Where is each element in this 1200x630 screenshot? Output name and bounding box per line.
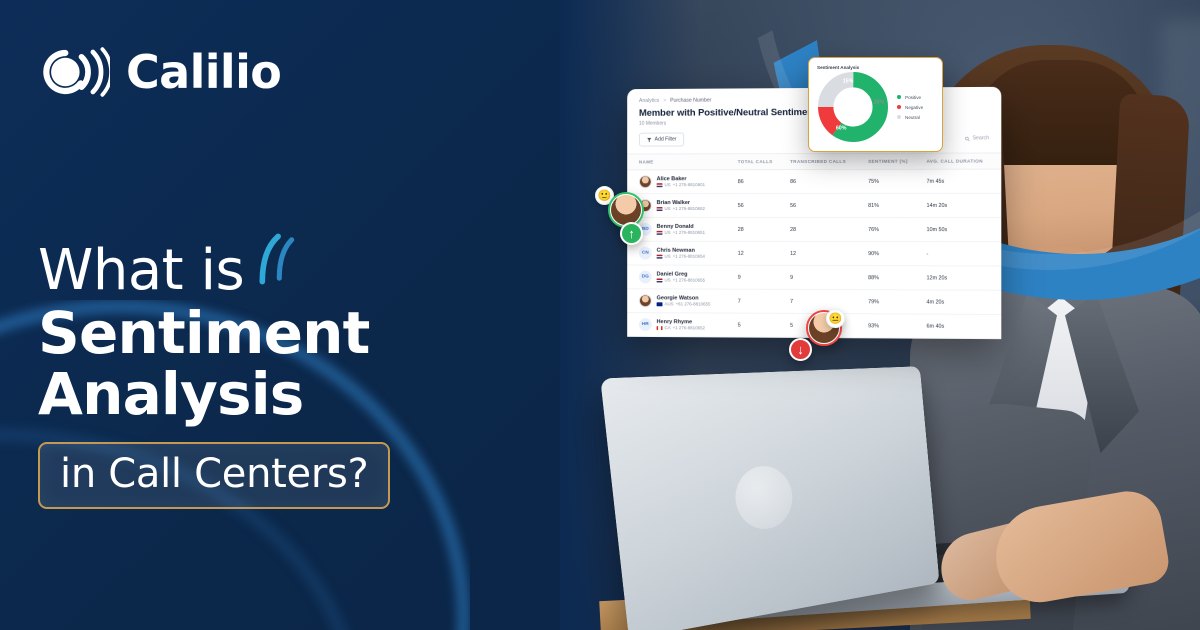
cell-duration: 6m 40s bbox=[922, 314, 1001, 339]
country-code: US bbox=[664, 206, 670, 211]
country-code: AUS bbox=[664, 301, 673, 306]
member-phone: US+1 276-8810654 bbox=[657, 254, 705, 259]
headline-line-1-row: What is bbox=[38, 243, 608, 299]
cell-total-calls: 7 bbox=[734, 289, 786, 313]
cell-sentiment: 75% bbox=[864, 169, 922, 193]
legend-item-positive[interactable]: Positive bbox=[897, 95, 923, 100]
legend-swatch bbox=[897, 95, 901, 99]
table-header: NAME TOTAL CALLS TRANSCRIBED CALLS SENTI… bbox=[627, 153, 1001, 170]
table-row[interactable]: Brian WalkerUS+1 276-8810652565681%14m 2… bbox=[627, 193, 1001, 217]
col-total-calls[interactable]: TOTAL CALLS bbox=[734, 154, 786, 170]
country-code: CA bbox=[664, 325, 670, 330]
col-transcribed-calls[interactable]: TRANSCRIBED CALLS bbox=[786, 153, 864, 169]
cell-total-calls: 28 bbox=[734, 217, 786, 241]
cell-total-calls: 9 bbox=[734, 265, 786, 289]
slice-label-negative: 15% bbox=[843, 78, 854, 84]
legend-label: Neutral bbox=[905, 115, 920, 120]
avatar-face bbox=[611, 195, 641, 225]
promo-banner: Calilio What is Sentiment Analysis in Ca… bbox=[0, 0, 1200, 630]
col-name[interactable]: NAME bbox=[627, 154, 734, 170]
cell-name: Georgie WatsonAUS+61 276-8810655 bbox=[627, 289, 734, 313]
country-code: US bbox=[664, 230, 670, 235]
breadcrumb-current: Purchase Number bbox=[670, 98, 711, 104]
member-phone: AUS+61 276-8810655 bbox=[657, 301, 711, 307]
brand-logo[interactable]: Calilio bbox=[34, 34, 281, 110]
chart-legend: PositiveNegativeNeutral bbox=[897, 95, 923, 120]
cell-total-calls: 56 bbox=[734, 194, 786, 218]
country-code: US bbox=[664, 278, 670, 283]
cell-transcribed-calls: 9 bbox=[786, 265, 864, 289]
flag-icon bbox=[657, 278, 663, 282]
broadcast-signal-icon bbox=[34, 34, 110, 110]
search-placeholder: Search bbox=[972, 135, 989, 141]
member-phone: US+1 276-8810652 bbox=[657, 206, 705, 211]
avatar: CN bbox=[639, 247, 652, 260]
cell-name: HRHenry RhymeCA+1 276-8810652 bbox=[627, 313, 734, 337]
legend-item-neutral[interactable]: Neutral bbox=[897, 115, 923, 120]
cell-sentiment: 93% bbox=[864, 314, 922, 338]
avatar: HR bbox=[639, 318, 652, 331]
signal-swoosh-icon bbox=[254, 233, 300, 285]
flag-icon bbox=[657, 326, 663, 330]
legend-swatch bbox=[897, 105, 901, 109]
neutral-emoji-chip: 😐 bbox=[826, 309, 845, 328]
chart-body: 60% 15% 25% PositiveNegativeNeutral bbox=[817, 71, 934, 143]
headline-badge: in Call Centers? bbox=[38, 442, 390, 509]
table-header-row: NAME TOTAL CALLS TRANSCRIBED CALLS SENTI… bbox=[627, 153, 1001, 170]
flag-icon bbox=[657, 254, 663, 258]
flag-icon bbox=[657, 231, 663, 235]
avatar: DG bbox=[639, 270, 652, 283]
col-avg-duration[interactable]: AVG. CALL DURATION bbox=[922, 153, 1001, 169]
table-row[interactable]: CNChris NewmanUS+1 276-8810654121290%- bbox=[627, 241, 1001, 266]
brand-name: Calilio bbox=[126, 45, 281, 99]
flag-icon bbox=[657, 183, 663, 187]
country-code: US bbox=[664, 254, 670, 259]
member-phone: US+1 276-8810655 bbox=[657, 278, 705, 284]
cell-transcribed-calls: 28 bbox=[786, 217, 864, 241]
funnel-icon bbox=[647, 137, 652, 142]
phone-number: +1 276-8810652 bbox=[673, 325, 705, 331]
legend-label: Positive bbox=[905, 95, 921, 100]
cell-sentiment: 90% bbox=[864, 242, 922, 266]
arrow-up-chip: ↑ bbox=[620, 222, 643, 245]
laptop-logo bbox=[732, 464, 795, 533]
arrow-up-icon: ↑ bbox=[620, 222, 643, 245]
member-phone: US+1 276-8810801 bbox=[657, 182, 705, 187]
search-input[interactable]: Search bbox=[964, 135, 989, 141]
phone-number: +61 276-8810655 bbox=[676, 301, 711, 307]
cell-sentiment: 76% bbox=[864, 218, 922, 242]
cell-name: DGDaniel GregUS+1 276-8810655 bbox=[627, 265, 734, 289]
phone-number: +1 276-8810652 bbox=[673, 206, 705, 211]
cell-transcribed-calls: 56 bbox=[786, 193, 864, 217]
table-row[interactable]: Alice BakerUS+1 276-8810801868675%7m 45s bbox=[627, 169, 1001, 194]
add-filter-label: Add Filter bbox=[655, 137, 677, 143]
country-code: US bbox=[664, 182, 670, 187]
cell-sentiment: 88% bbox=[864, 266, 922, 290]
search-icon bbox=[964, 136, 969, 141]
cell-name: CNChris NewmanUS+1 276-8810654 bbox=[627, 241, 734, 265]
col-sentiment[interactable]: SENTIMENT (%) bbox=[864, 153, 922, 169]
arrow-down-icon: ↓ bbox=[789, 338, 812, 361]
phone-number: +1 276-8810651 bbox=[673, 230, 705, 235]
sentiment-analysis-chart-card: Sentiment Analysis 60% 15% 25% PositiveN… bbox=[808, 57, 943, 152]
slice-label-positive: 60% bbox=[836, 125, 847, 131]
flag-icon bbox=[657, 302, 663, 306]
member-phone: US+1 276-8810651 bbox=[657, 230, 705, 235]
legend-label: Negative bbox=[905, 105, 923, 110]
cell-total-calls: 12 bbox=[734, 241, 786, 265]
flag-icon bbox=[657, 207, 663, 211]
cell-sentiment: 81% bbox=[864, 193, 922, 217]
avatar bbox=[639, 175, 652, 188]
add-filter-button[interactable]: Add Filter bbox=[639, 133, 684, 147]
cell-duration: 14m 20s bbox=[922, 193, 1001, 217]
headline-block: What is Sentiment Analysis in Call Cente… bbox=[38, 243, 608, 509]
chart-title: Sentiment Analysis bbox=[817, 65, 934, 70]
slice-label-neutral: 25% bbox=[874, 100, 885, 106]
phone-number: +1 276-8810654 bbox=[673, 254, 705, 259]
headline-line-2: Sentiment Analysis bbox=[38, 303, 608, 426]
cell-duration: 7m 45s bbox=[922, 169, 1001, 193]
arrow-down-chip: ↓ bbox=[789, 338, 812, 361]
laptop-lid bbox=[600, 366, 939, 630]
cell-name: Alice BakerUS+1 276-8810801 bbox=[627, 170, 734, 194]
donut-chart: 60% 15% 25% bbox=[817, 71, 889, 143]
cell-duration: 4m 20s bbox=[922, 290, 1001, 315]
breadcrumb-separator: > bbox=[663, 98, 666, 104]
cell-total-calls: 86 bbox=[734, 170, 786, 194]
cell-total-calls: 5 bbox=[734, 313, 786, 337]
breadcrumb-root[interactable]: Analytics bbox=[639, 98, 659, 104]
legend-swatch bbox=[897, 115, 901, 119]
cell-transcribed-calls: 86 bbox=[786, 169, 864, 193]
phone-number: +1 276-8810801 bbox=[673, 182, 705, 187]
cell-duration: - bbox=[922, 242, 1001, 266]
phone-number: +1 276-8810655 bbox=[673, 278, 705, 283]
member-phone: CA+1 276-8810652 bbox=[657, 325, 705, 331]
neutral-face-icon: 😐 bbox=[826, 309, 845, 328]
table-row[interactable]: DGDaniel GregUS+1 276-88106559988%12m 20… bbox=[627, 265, 1001, 290]
cell-transcribed-calls: 12 bbox=[786, 241, 864, 265]
cell-duration: 10m 50s bbox=[922, 218, 1001, 242]
table-row[interactable]: BDBenny DonaldUS+1 276-8810651282876%10m… bbox=[627, 217, 1001, 241]
legend-item-negative[interactable]: Negative bbox=[897, 105, 923, 110]
avatar bbox=[639, 294, 652, 307]
cell-sentiment: 79% bbox=[864, 290, 922, 314]
cell-duration: 12m 20s bbox=[922, 266, 1001, 290]
headline-line-1: What is bbox=[38, 243, 244, 299]
